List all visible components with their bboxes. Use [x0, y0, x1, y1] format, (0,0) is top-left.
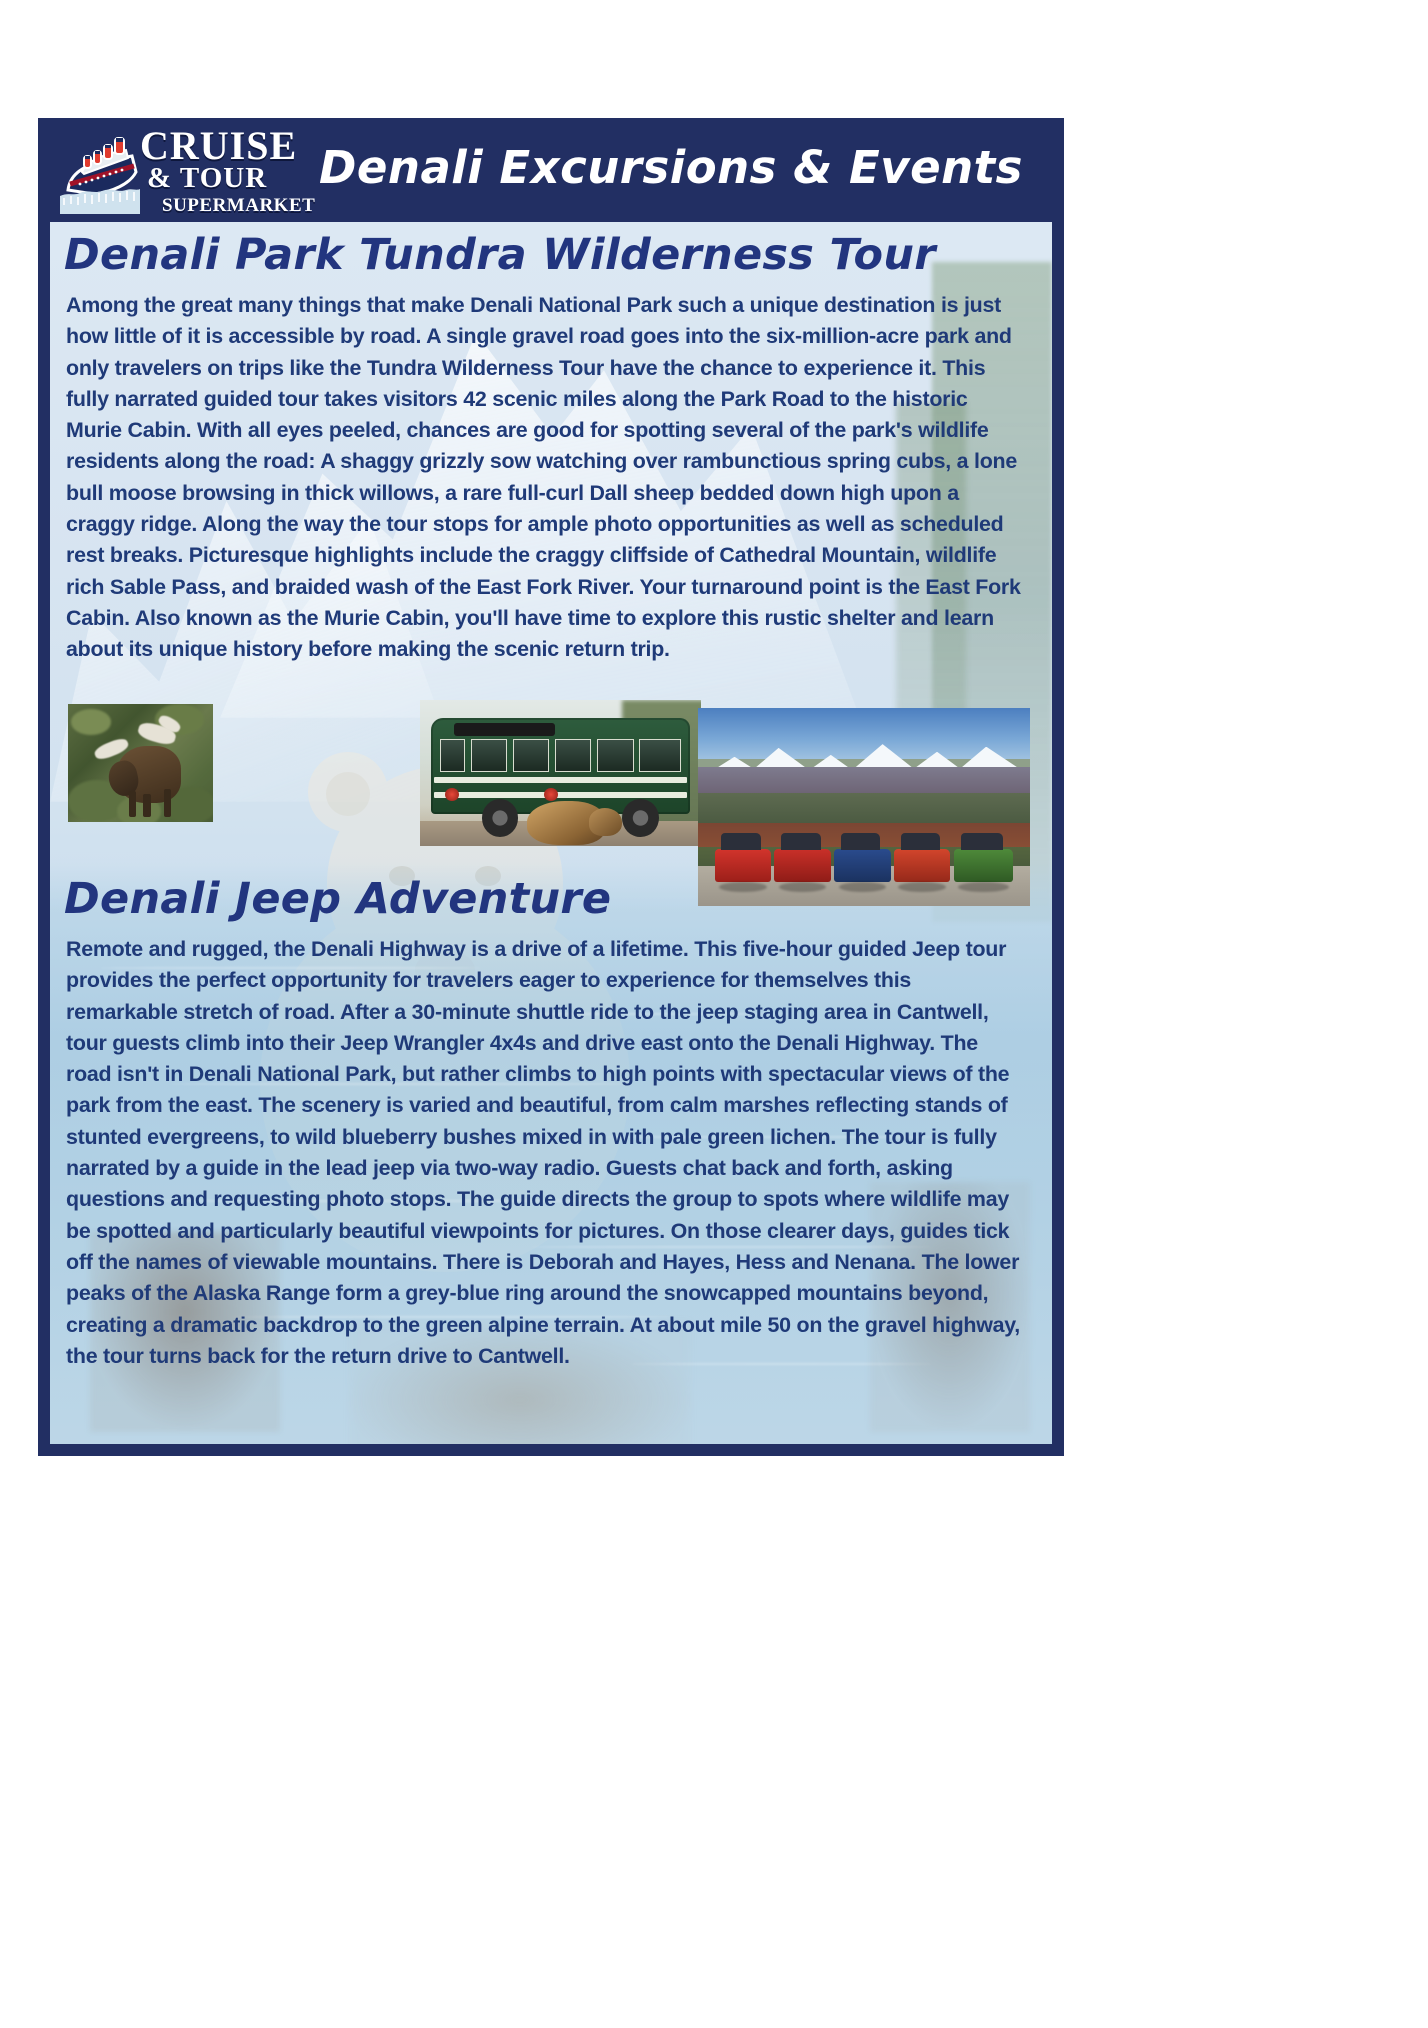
photo-jeep-lineup: [698, 708, 1030, 906]
photo-tour-bus: [420, 700, 701, 846]
brand-logo: CRUISE & TOUR SUPERMARKET: [52, 120, 300, 220]
section-title-jeep: Denali Jeep Adventure: [64, 874, 611, 924]
photo-moose: [68, 704, 213, 822]
flyer-header: CRUISE & TOUR SUPERMARKET Denali Excursi…: [38, 118, 1064, 222]
logo-word-supermarket: SUPERMARKET: [162, 196, 315, 215]
section-title-tundra: Denali Park Tundra Wilderness Tour: [64, 230, 936, 280]
flyer-title: Denali Excursions & Events: [300, 142, 1064, 198]
flyer-page: CRUISE & TOUR SUPERMARKET Denali Excursi…: [38, 118, 1064, 1456]
footer-strip: [38, 1444, 1064, 1456]
cruise-ship-icon: [60, 126, 140, 214]
section-body-jeep: Remote and rugged, the Denali Highway is…: [66, 934, 1028, 1372]
logo-word-cruise: CRUISE: [140, 126, 297, 166]
flyer-content: Denali Park Tundra Wilderness Tour Among…: [50, 222, 1052, 1444]
logo-word-tour: & TOUR: [147, 164, 267, 193]
section-body-tundra: Among the great many things that make De…: [66, 290, 1028, 666]
